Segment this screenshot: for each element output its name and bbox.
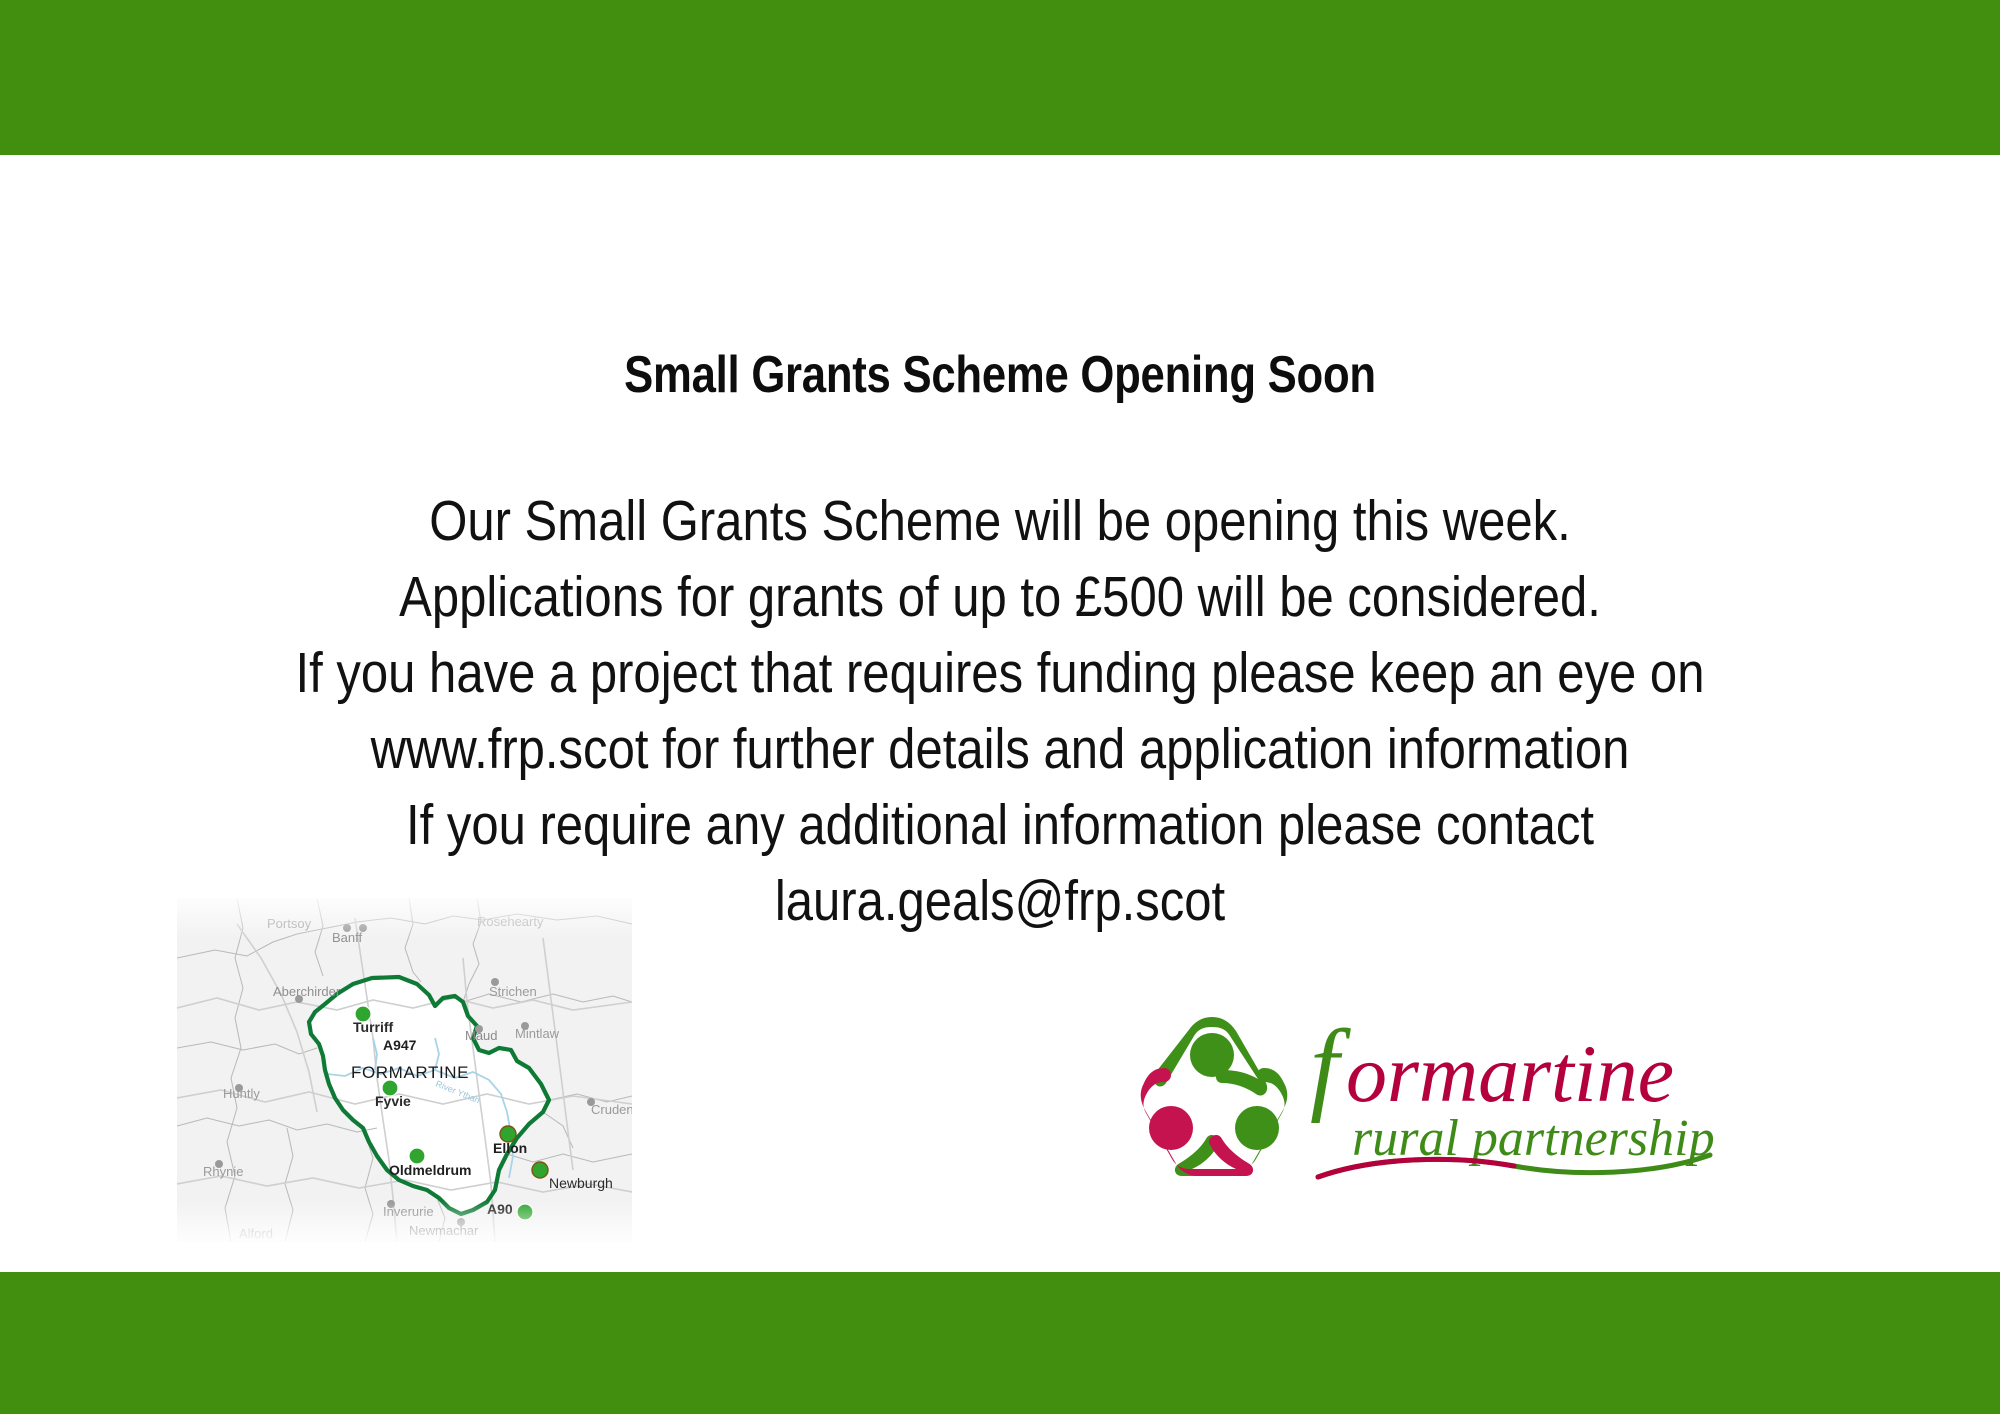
body-copy: Our Small Grants Scheme will be opening … bbox=[140, 483, 1860, 939]
body-line: If you require any additional informatio… bbox=[140, 787, 1860, 863]
logo-swoosh-crimson bbox=[1318, 1159, 1514, 1177]
logo-wordmark: f ormartine rural partnership bbox=[1304, 1005, 1724, 1195]
logo-word-ormartine: ormartine bbox=[1346, 1028, 1674, 1119]
page-title: Small Grants Scheme Opening Soon bbox=[160, 345, 1840, 405]
website-line: www.frp.scot for further details and app… bbox=[140, 711, 1860, 787]
poster-canvas: Small Grants Scheme Opening Soon Our Sma… bbox=[0, 0, 2000, 1414]
body-line: Applications for grants of up to £500 wi… bbox=[140, 559, 1860, 635]
three-figures-triangle-icon bbox=[1126, 1009, 1302, 1179]
bottom-green-band bbox=[0, 1272, 2000, 1414]
formartine-region-map: Portsoy Banff Rosehearty Aberchirder Str… bbox=[177, 898, 632, 1242]
logo-figure-top bbox=[1154, 1017, 1267, 1096]
top-green-band bbox=[0, 0, 2000, 155]
logo-word-f: f bbox=[1310, 1009, 1351, 1124]
formartine-rural-partnership-logo: f ormartine rural partnership bbox=[1126, 1005, 1726, 1195]
body-line: Our Small Grants Scheme will be opening … bbox=[140, 483, 1860, 559]
body-line: If you have a project that requires fund… bbox=[140, 635, 1860, 711]
